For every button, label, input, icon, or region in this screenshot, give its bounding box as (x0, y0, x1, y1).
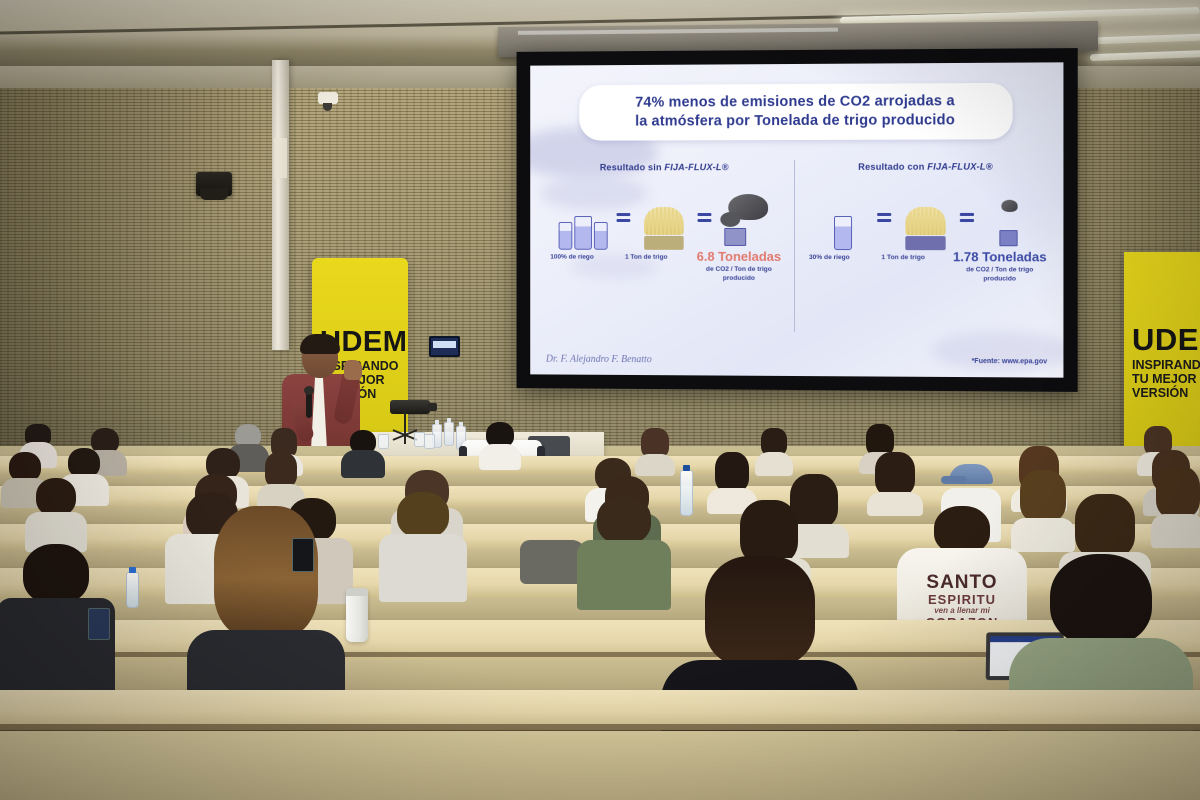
water-figure (814, 184, 872, 250)
smartphone (88, 608, 110, 640)
microphone-icon (306, 392, 312, 418)
equals-icon (698, 213, 712, 222)
lecture-hall-photo: 74% menos de emisiones de CO2 arrojadas … (0, 0, 1200, 800)
water-bottle (126, 572, 139, 608)
baseball-cap-icon (949, 464, 993, 484)
audience-person (340, 430, 386, 470)
emissions-value: 1.78 Toneladas (949, 250, 1050, 265)
smartphone (292, 538, 314, 572)
wall-shadow-left (0, 88, 300, 460)
presentation-slide: 74% menos de emisiones de CO2 arrojadas … (530, 62, 1063, 377)
emissions-figure (979, 184, 1038, 251)
video-camera-icon (390, 400, 430, 414)
tumbler (346, 588, 368, 642)
water-figure (555, 184, 612, 250)
wheat-icon (644, 207, 684, 250)
wheat-icon (905, 207, 945, 250)
water-bottle (680, 470, 693, 516)
raised-hand (344, 360, 362, 380)
result-column-with-product: Resultado con FIJA-FLUX-L® (799, 161, 1052, 284)
audience-person-foreground (186, 506, 346, 716)
water-jug-icon (834, 216, 852, 250)
water-amount-label: 30% de riego (801, 254, 857, 263)
audience-person (576, 496, 672, 608)
drinking-glass (424, 434, 435, 449)
column-divider (794, 160, 795, 332)
audience-person (1150, 466, 1200, 546)
tripod (404, 408, 406, 444)
slide-source-note: *Fuente: www.epa.gov (972, 358, 1048, 365)
equation-row (541, 184, 789, 250)
wall-speaker-icon (196, 172, 232, 196)
product-name: FIJA-FLUX-L® (664, 162, 728, 172)
wheat-amount-label: 1 Ton de trigo (872, 254, 934, 263)
emissions-unit-label: de CO2 / Ton de trigo producido (691, 266, 786, 284)
banner-line-1: INSPIRANDO (1124, 358, 1200, 372)
equals-icon (617, 213, 631, 222)
emissions-figure (717, 184, 775, 250)
smokestack-icon (981, 194, 1036, 251)
column-header: Resultado con FIJA-FLUX-L® (799, 161, 1052, 172)
column-header: Resultado sin FIJA-FLUX-L® (541, 162, 789, 172)
equals-icon (960, 212, 974, 221)
water-amount-label: 100% de riego (543, 254, 602, 263)
security-camera-icon (318, 92, 338, 104)
slide-title: 74% menos de emisiones de CO2 arrojadas … (579, 83, 1012, 141)
audience-person (378, 492, 468, 600)
audience-person (478, 422, 522, 466)
desk-edge (0, 724, 1200, 731)
udem-banner-right: UDEM INSPIRANDO TU MEJOR VERSIÓN (1124, 252, 1200, 452)
audience-person (24, 478, 88, 550)
projection-screen: 74% menos de emisiones de CO2 arrojadas … (517, 48, 1078, 392)
wheat-figure (896, 184, 955, 250)
wheat-figure (635, 184, 692, 250)
cloud-decoration (932, 331, 1064, 372)
wheat-amount-label: 1 Ton de trigo (616, 254, 677, 263)
slide-signature: Dr. F. Alejandro F. Benatto (546, 354, 652, 366)
emissions-value: 6.8 Toneladas (691, 250, 786, 264)
banner-line-3: VERSIÓN (1124, 386, 1200, 400)
wall-sign (429, 336, 460, 357)
equation-row (799, 184, 1052, 251)
slide-title-line-1: 74% menos de emisiones de CO2 arrojadas … (593, 92, 998, 113)
smokestack-icon (719, 194, 773, 250)
column-header-prefix: Resultado con (858, 162, 927, 172)
water-bottle (444, 422, 454, 446)
emissions-unit-label: de CO2 / Ton de trigo producido (949, 267, 1050, 285)
wall-pillar (272, 60, 289, 350)
water-jug-icon (559, 216, 608, 250)
result-column-without-product: Resultado sin FIJA-FLUX-L® (541, 162, 789, 284)
pillar-strip (274, 138, 287, 178)
equals-icon (877, 212, 891, 221)
column-header-prefix: Resultado sin (600, 162, 665, 172)
desk-riser (0, 731, 1200, 800)
audience-person (754, 428, 794, 468)
slide-title-line-2: la atmósfera por Tonelada de trigo produ… (593, 111, 998, 132)
banner-line-2: TU MEJOR (1124, 372, 1200, 386)
audience-person (866, 452, 924, 512)
product-name: FIJA-FLUX-L® (927, 162, 993, 172)
banner-title: UDEM (1124, 252, 1200, 358)
